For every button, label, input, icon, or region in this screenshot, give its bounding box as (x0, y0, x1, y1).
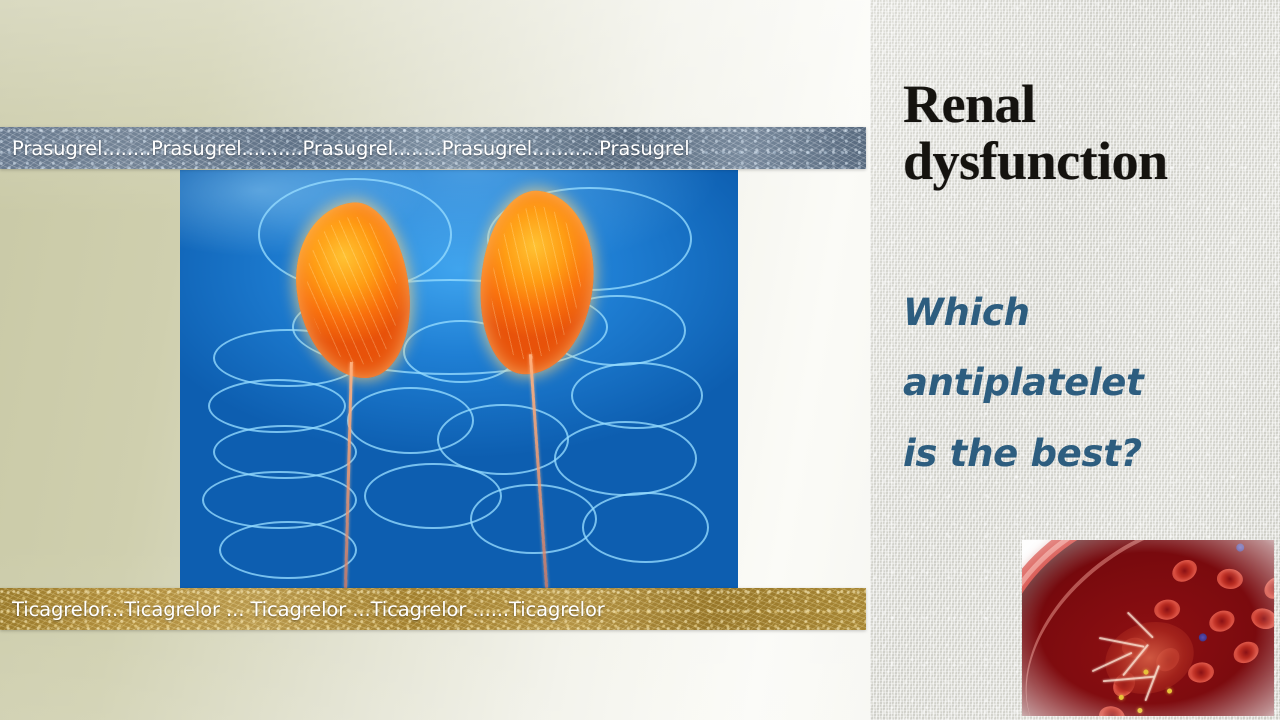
ticagrelor-banner-text: Ticagrelor...Ticagrelor ... Ticagrelor .… (0, 598, 605, 621)
subtitle-line-1: Which (903, 278, 1233, 348)
slide-title: Renal dysfunction (903, 76, 1263, 190)
bowel-loop (219, 521, 357, 579)
title-line-2: dysfunction (903, 133, 1263, 190)
prasugrel-banner-text: Prasugrel........Prasugrel..........Pras… (0, 137, 690, 160)
subtitle-line-2: antiplatelet (903, 348, 1233, 418)
bowel-loop (554, 421, 698, 496)
bowel-loop (582, 492, 709, 563)
bowel-loop (571, 362, 703, 429)
prasugrel-banner: Prasugrel........Prasugrel..........Pras… (0, 127, 866, 169)
presentation-slide: Prasugrel........Prasugrel..........Pras… (0, 0, 1280, 720)
bowel-loop (470, 484, 597, 555)
slide-subtitle: Which antiplatelet is the best? (903, 278, 1233, 489)
ticagrelor-banner: Ticagrelor...Ticagrelor ... Ticagrelor .… (0, 588, 866, 630)
title-line-1: Renal (903, 76, 1263, 133)
blood-vessel-image (1022, 540, 1274, 716)
vessel-wall (1022, 540, 1274, 716)
subtitle-line-3: is the best? (903, 419, 1233, 489)
kidney-anatomy-image (180, 170, 738, 588)
